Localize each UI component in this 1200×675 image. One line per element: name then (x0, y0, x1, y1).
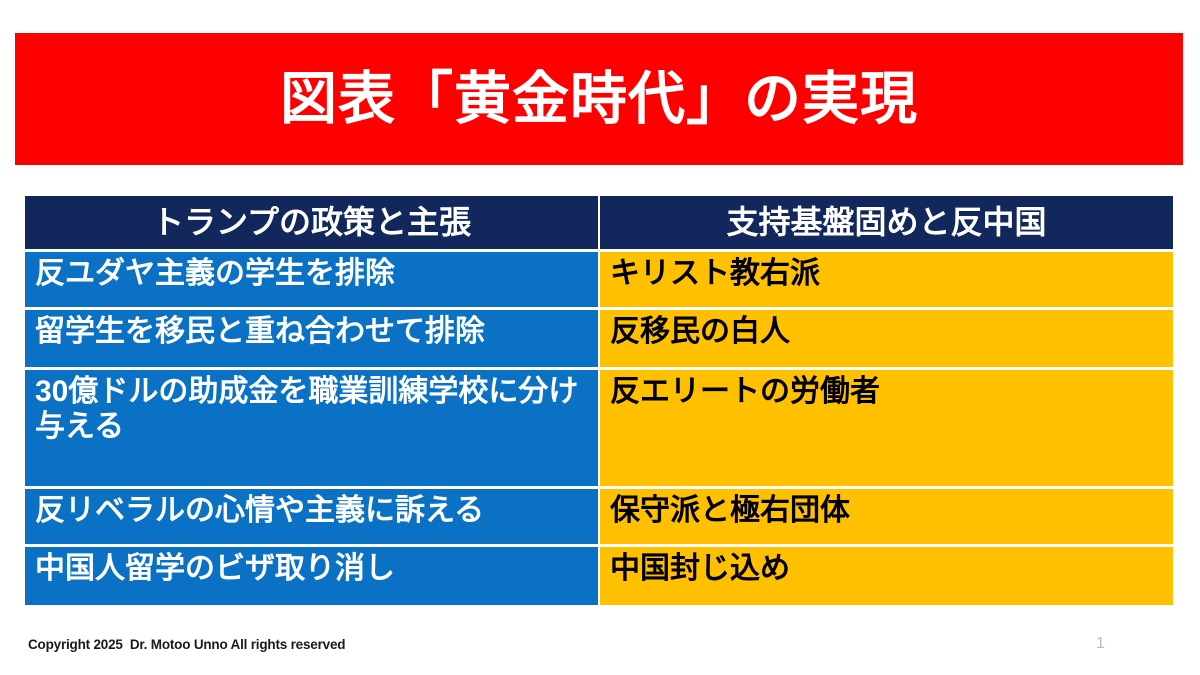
policy-text-1: 反ユダヤ主義の学生を排除 (25, 252, 600, 307)
table-row: 30億ドルの助成金を職業訓練学校に分け与える 反エリートの労働者 (25, 369, 1173, 488)
table-header-cell-base: 支持基盤固めと反中国 (600, 195, 1173, 251)
policy-text-5: 中国人留学のビザ取り消し (25, 547, 600, 605)
page-title: 図表「黄金時代」の実現 (280, 68, 918, 131)
policy-table-container: トランプの政策と主張 支持基盤固めと反中国 反ユダヤ主義の学生を排除 キリスト教… (25, 195, 1173, 607)
base-text-1: キリスト教右派 (600, 252, 1173, 307)
copyright-notice: Copyright 2025 Dr. Motoo Unno All rights… (28, 637, 345, 652)
policy-text-3: 30億ドルの助成金を職業訓練学校に分け与える (25, 370, 600, 486)
table-row: 反ユダヤ主義の学生を排除 キリスト教右派 (25, 251, 1173, 309)
table-cell-base: 反移民の白人 (600, 309, 1173, 369)
base-text-2: 反移民の白人 (600, 310, 1173, 367)
slide-canvas: 図表「黄金時代」の実現 トランプの政策と主張 支持基盤固めと反中国 (0, 0, 1200, 675)
policy-text-2: 留学生を移民と重ね合わせて排除 (25, 310, 600, 367)
table-cell-policy: 中国人留学のビザ取り消し (25, 546, 600, 607)
column-header-policy: トランプの政策と主張 (25, 196, 600, 249)
table-row: 中国人留学のビザ取り消し 中国封じ込め (25, 546, 1173, 607)
table-cell-base: 保守派と極右団体 (600, 488, 1173, 546)
base-text-5: 中国封じ込め (600, 547, 1173, 605)
table-row: 反リベラルの心情や主義に訴える 保守派と極右団体 (25, 488, 1173, 546)
table-cell-base: 反エリートの労働者 (600, 369, 1173, 488)
table-row: 留学生を移民と重ね合わせて排除 反移民の白人 (25, 309, 1173, 369)
policy-table: トランプの政策と主張 支持基盤固めと反中国 反ユダヤ主義の学生を排除 キリスト教… (25, 195, 1173, 607)
column-header-base: 支持基盤固めと反中国 (600, 196, 1173, 249)
table-cell-base: 中国封じ込め (600, 546, 1173, 607)
base-text-3: 反エリートの労働者 (600, 370, 1173, 486)
table-cell-policy: 30億ドルの助成金を職業訓練学校に分け与える (25, 369, 600, 488)
table-cell-policy: 反ユダヤ主義の学生を排除 (25, 251, 600, 309)
table-cell-policy: 留学生を移民と重ね合わせて排除 (25, 309, 600, 369)
base-text-4: 保守派と極右団体 (600, 489, 1173, 544)
page-number: 1 (1096, 635, 1105, 653)
policy-text-4: 反リベラルの心情や主義に訴える (25, 489, 600, 544)
title-banner: 図表「黄金時代」の実現 (15, 33, 1183, 165)
table-cell-policy: 反リベラルの心情や主義に訴える (25, 488, 600, 546)
table-cell-base: キリスト教右派 (600, 251, 1173, 309)
table-header-row: トランプの政策と主張 支持基盤固めと反中国 (25, 195, 1173, 251)
table-header-cell-policy: トランプの政策と主張 (25, 195, 600, 251)
